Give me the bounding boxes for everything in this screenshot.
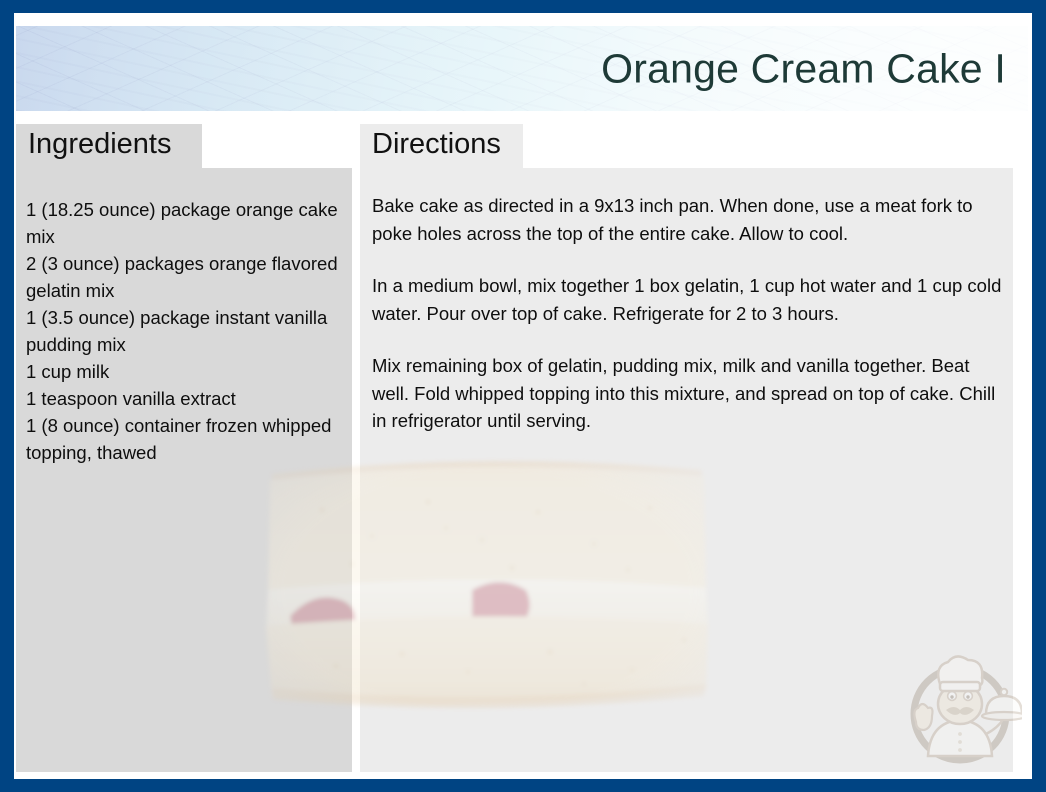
list-item: 1 cup milk bbox=[26, 358, 344, 385]
list-item: 1 teaspoon vanilla extract bbox=[26, 385, 344, 412]
list-item: 1 (8 ounce) container frozen whipped top… bbox=[26, 412, 344, 466]
recipe-title: Orange Cream Cake I bbox=[601, 45, 1006, 92]
direction-step: In a medium bowl, mix together 1 box gel… bbox=[372, 272, 1009, 327]
direction-step: Bake cake as directed in a 9x13 inch pan… bbox=[372, 192, 1009, 247]
recipe-card: Orange Cream Cake I Ingredients 1 (18.25… bbox=[0, 0, 1046, 792]
ingredients-heading: Ingredients bbox=[28, 128, 172, 161]
list-item: 1 (18.25 ounce) package orange cake mix bbox=[26, 196, 344, 250]
ingredients-panel: Ingredients 1 (18.25 ounce) package oran… bbox=[16, 124, 352, 772]
list-item: 1 (3.5 ounce) package instant vanilla pu… bbox=[26, 304, 344, 358]
title-banner: Orange Cream Cake I bbox=[16, 26, 1028, 111]
list-item: 2 (3 ounce) packages orange flavored gel… bbox=[26, 250, 344, 304]
directions-steps: Bake cake as directed in a 9x13 inch pan… bbox=[372, 192, 1009, 435]
directions-panel: Directions Bake cake as directed in a 9x… bbox=[360, 124, 1013, 772]
direction-step: Mix remaining box of gelatin, pudding mi… bbox=[372, 352, 1009, 435]
directions-heading: Directions bbox=[372, 128, 501, 161]
ingredients-list: 1 (18.25 ounce) package orange cake mix … bbox=[26, 196, 344, 466]
